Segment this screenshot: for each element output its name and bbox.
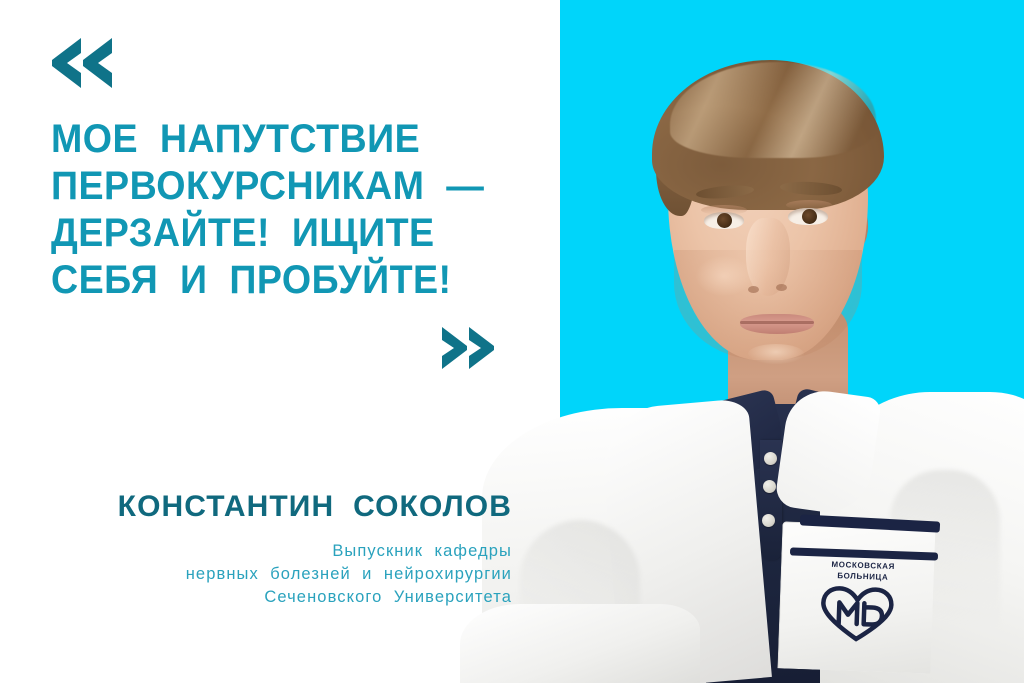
person-subtitle-line-1: Выпускник кафедры — [0, 540, 512, 563]
headline-line-3: ДЕРЗАЙТЕ! ИЩИТЕ — [51, 210, 502, 257]
nostril-left — [748, 286, 759, 293]
headline-line-2: ПЕРВОКУРСНИКАМ — — [51, 163, 502, 210]
nostril-right — [776, 284, 787, 291]
eyelid-right — [786, 200, 832, 210]
headline-line-4: СЕБЯ И ПРОБУЙТЕ! — [51, 257, 502, 304]
eye-right — [788, 208, 828, 225]
cheek-highlight — [696, 256, 752, 296]
polo-button — [764, 452, 777, 465]
headline-line-1: МОЕ НАПУТСТВИЕ — [51, 116, 502, 163]
pocket-embroidery-text: МОСКОВСКАЯ БОЛЬНИЦА — [798, 558, 929, 585]
eyelid-left — [701, 205, 747, 215]
person-subtitle-line-2: нервных болезней и нейрохирургии — [0, 563, 512, 586]
polo-button — [762, 514, 775, 527]
polo-button — [763, 480, 776, 493]
hospital-heart-logo-icon — [817, 585, 897, 644]
iris-right — [802, 209, 817, 224]
headline-quote: МОЕ НАПУТСТВИЕ ПЕРВОКУРСНИКАМ — ДЕРЗАЙТЕ… — [51, 116, 502, 304]
quote-open-icon — [50, 36, 114, 90]
mouth-line — [740, 321, 814, 324]
mouth — [740, 314, 814, 334]
person-name: КОНСТАНТИН СОКОЛОВ — [0, 490, 512, 524]
person-subtitle: Выпускник кафедры нервных болезней и ней… — [0, 540, 512, 609]
poster-canvas: МОСКОВСКАЯ БОЛЬНИЦА МОЕ НАПУТСТВИЕ ПЕРВО… — [0, 0, 1024, 683]
quote-close-icon — [440, 325, 496, 371]
text-column: МОЕ НАПУТСТВИЕ ПЕРВОКУРСНИКАМ — ДЕРЗАЙТЕ… — [0, 0, 560, 683]
person-subtitle-line-3: Сеченовского Университета — [0, 586, 512, 609]
iris-left — [717, 213, 732, 228]
chin-highlight — [748, 344, 804, 364]
